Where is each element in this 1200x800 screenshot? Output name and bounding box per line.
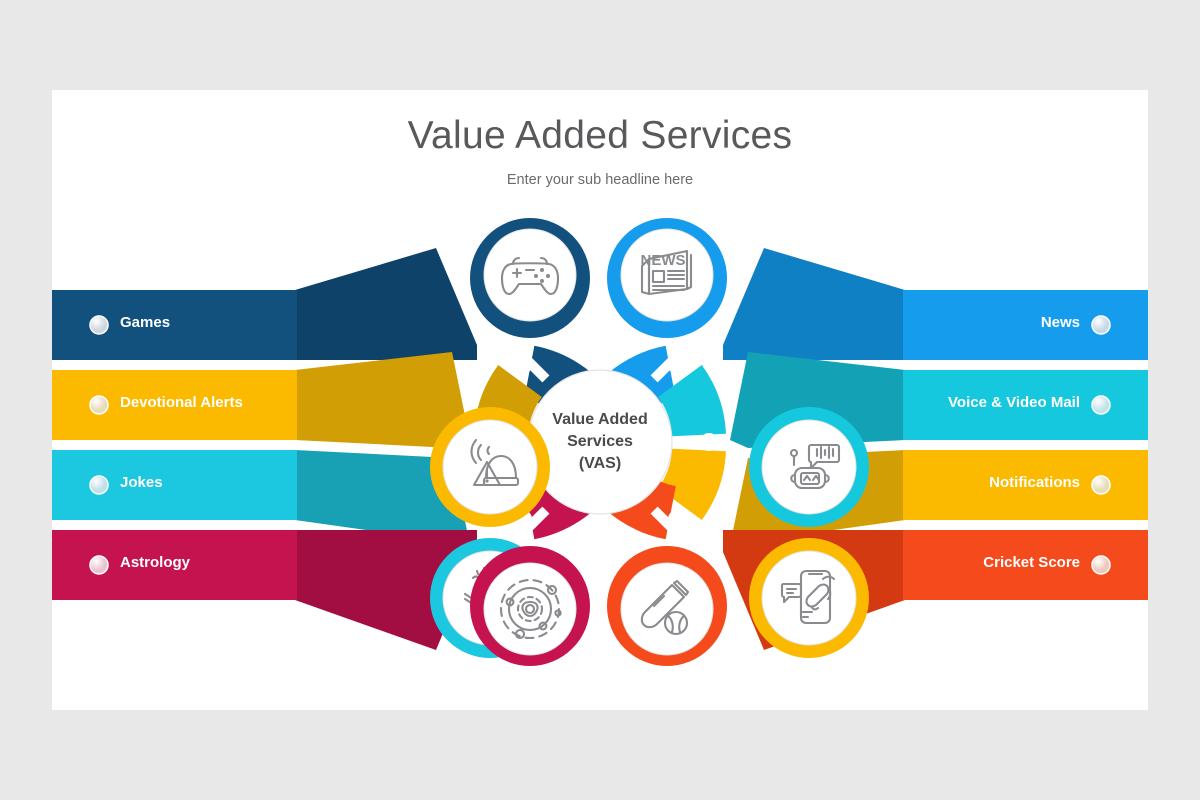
- icon-circle-astrology[interactable]: [470, 546, 590, 666]
- ribbon-games-neck: [295, 248, 477, 360]
- newspaper-heading-text: NEWS: [641, 252, 686, 269]
- ribbon-group-left: [52, 248, 477, 650]
- ribbon-games[interactable]: [52, 248, 477, 360]
- hub-circle[interactable]: [528, 370, 672, 514]
- bar-label-devotional-alerts: Devotional Alerts: [120, 394, 243, 411]
- icon-circle-notifications[interactable]: [749, 538, 869, 658]
- bar-label-news: News: [1041, 314, 1080, 331]
- ribbon-news[interactable]: [723, 248, 1148, 360]
- bullet-games: [88, 314, 110, 336]
- icon-circle-news[interactable]: NEWS: [607, 218, 727, 338]
- petal-voice: [680, 381, 699, 435]
- bar-label-games: Games: [120, 314, 170, 331]
- bullet-notifications: [1090, 474, 1112, 496]
- ribbon-astrology[interactable]: [52, 530, 477, 650]
- bullet-astrology: [88, 554, 110, 576]
- slide-canvas: Value Added Services Enter your sub head…: [52, 90, 1148, 710]
- bar-label-notifications: Notifications: [989, 474, 1080, 491]
- bar-label-voice-video-mail: Voice & Video Mail: [948, 394, 1080, 411]
- bar-label-jokes: Jokes: [120, 474, 163, 491]
- ribbon-news-neck: [723, 248, 905, 360]
- petal-notifications: [680, 450, 699, 504]
- bullet-cricket-score: [1090, 554, 1112, 576]
- bar-label-astrology: Astrology: [120, 554, 190, 571]
- bar-label-cricket-score: Cricket Score: [983, 554, 1080, 571]
- bullet-jokes: [88, 474, 110, 496]
- icon-circle-cricket-score[interactable]: [607, 546, 727, 666]
- icon-circle-voice-video-mail[interactable]: [749, 407, 869, 527]
- bullet-news: [1090, 314, 1112, 336]
- bullet-devotional-alerts: [88, 394, 110, 416]
- icon-circle-devotional-alerts[interactable]: [430, 407, 550, 527]
- icon-circle-games[interactable]: [470, 218, 590, 338]
- bullet-voice-video-mail: [1090, 394, 1112, 416]
- ribbon-devotional-alerts[interactable]: [52, 352, 470, 448]
